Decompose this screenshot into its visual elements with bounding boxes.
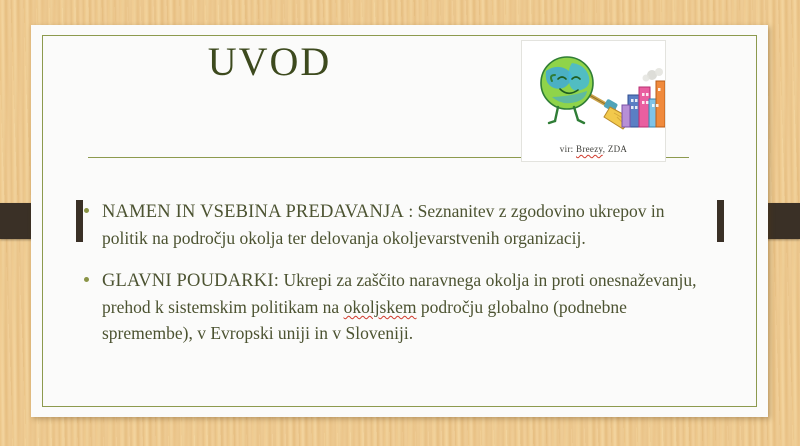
list-item: GLAVNI POUDARKI: Ukrepi za zaščito narav… xyxy=(84,267,704,346)
slide-title: UVOD xyxy=(42,38,497,86)
caption-prefix: vir: xyxy=(560,144,576,154)
caption-source-name: Breezy xyxy=(576,144,603,154)
bullet-dot-icon xyxy=(84,198,102,213)
caption-suffix: , ZDA xyxy=(603,144,628,154)
slide-content: UVOD xyxy=(42,35,697,407)
clipart-block: vir: Breezy, ZDA xyxy=(521,40,666,162)
bullet-1-lead: NAMEN IN VSEBINA PREDAVANJA xyxy=(102,202,404,222)
right-ribbon-cap xyxy=(717,200,724,242)
bullet-2-lead: GLAVNI POUDARKI: xyxy=(102,271,279,291)
bullet-dot-icon xyxy=(84,267,102,282)
bullet-text-1: NAMEN IN VSEBINA PREDAVANJA : Seznanitev… xyxy=(102,198,704,251)
list-item: NAMEN IN VSEBINA PREDAVANJA : Seznanitev… xyxy=(84,198,704,251)
clipart-source-caption: vir: Breezy, ZDA xyxy=(521,144,666,154)
bullet-list: NAMEN IN VSEBINA PREDAVANJA : Seznanitev… xyxy=(84,198,704,362)
bullet-2-misspelled-word: okoljskem xyxy=(344,297,417,317)
presentation-slide: UVOD xyxy=(0,0,800,446)
bullet-text-2: GLAVNI POUDARKI: Ukrepi za zaščito narav… xyxy=(102,267,704,346)
